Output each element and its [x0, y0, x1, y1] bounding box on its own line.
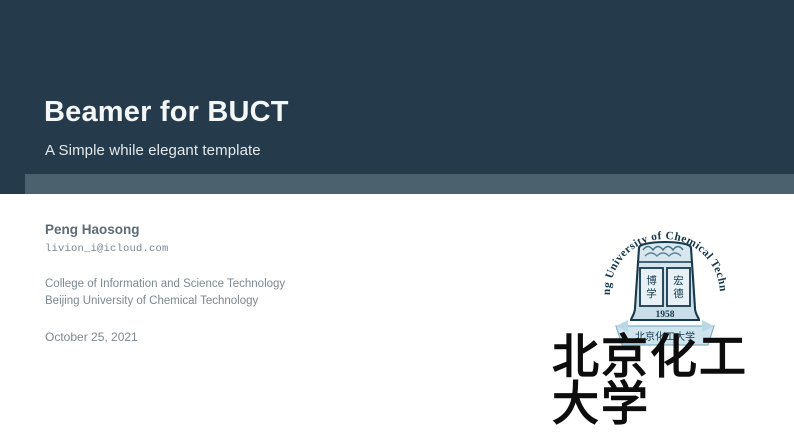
svg-text:宏: 宏 — [673, 274, 684, 287]
separator-band — [25, 174, 794, 194]
slide-header: Beamer for BUCT A Simple while elegant t… — [0, 0, 794, 174]
presentation-date: October 25, 2021 — [45, 330, 465, 345]
page-subtitle: A Simple while elegant template — [45, 143, 261, 158]
svg-text:学: 学 — [646, 287, 657, 300]
svg-text:德: 德 — [673, 287, 684, 300]
svg-text:博: 博 — [646, 274, 657, 287]
separator-band-row — [0, 174, 794, 194]
author-email[interactable]: livion_i@icloud.com — [45, 243, 465, 256]
emblem-founded-year: 1958 — [656, 310, 675, 320]
page-title: Beamer for BUCT — [44, 98, 289, 127]
affiliation-line: College of Information and Science Techn… — [45, 276, 465, 293]
university-wordmark: 北京化工大学 — [552, 348, 788, 414]
affiliation: College of Information and Science Techn… — [45, 276, 465, 309]
affiliation-line: Beijing University of Chemical Technolog… — [45, 293, 465, 310]
author-block: Peng Haosong livion_i@icloud.com College… — [45, 222, 465, 345]
university-logo: Beijing University of Chemical Technolog… — [552, 220, 788, 416]
title-slide: Beamer for BUCT A Simple while elegant t… — [0, 0, 794, 447]
author-name: Peng Haosong — [45, 222, 465, 239]
university-wordmark-text: 北京化工大学 — [552, 334, 788, 428]
